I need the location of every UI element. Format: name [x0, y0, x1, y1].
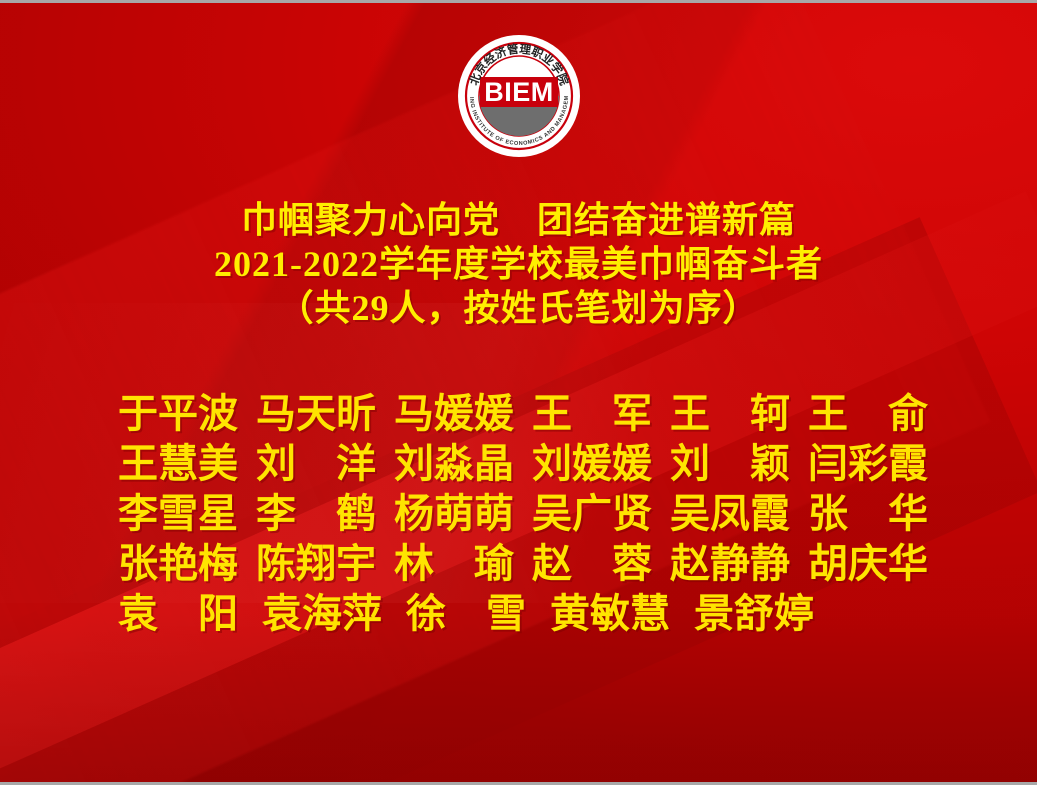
honoree-name: 杨萌萌	[394, 489, 514, 539]
honoree-name: 胡庆华	[808, 539, 928, 589]
honoree-name: 张艳梅	[118, 539, 238, 589]
honoree-name: 王 军	[532, 389, 652, 439]
honoree-name: 景舒婷	[694, 589, 814, 639]
honoree-name: 马媛媛	[394, 389, 514, 439]
honoree-name: 刘淼晶	[394, 439, 514, 489]
honoree-name: 黄敏慧	[550, 589, 670, 639]
slide-canvas: BIEM 北京经济管理职业学院 BEIJING INSTITUTE OF ECO…	[0, 0, 1037, 785]
title-line-2: 2021-2022学年度学校最美巾帼奋斗者	[0, 243, 1037, 287]
honoree-row: 于平波马天昕马媛媛王 军王 轲王 俞	[118, 389, 928, 439]
honoree-name: 闫彩霞	[808, 439, 928, 489]
honoree-name: 徐 雪	[406, 589, 526, 639]
honoree-name: 王慧美	[118, 439, 238, 489]
honoree-name: 王 轲	[670, 389, 790, 439]
title-line-1: 巾帼聚力心向党 团结奋进谱新篇	[0, 199, 1037, 243]
honoree-name: 于平波	[118, 389, 238, 439]
honoree-name: 刘媛媛	[532, 439, 652, 489]
honoree-row: 袁 阳袁海萍徐 雪黄敏慧景舒婷	[118, 589, 928, 639]
honoree-name: 赵静静	[670, 539, 790, 589]
title-block: 巾帼聚力心向党 团结奋进谱新篇 2021-2022学年度学校最美巾帼奋斗者 （共…	[0, 199, 1037, 331]
honoree-name: 刘 洋	[256, 439, 376, 489]
honoree-name: 张 华	[808, 489, 928, 539]
honoree-name: 王 俞	[808, 389, 928, 439]
honoree-name: 李雪星	[118, 489, 238, 539]
honoree-name: 吴广贤	[532, 489, 652, 539]
honoree-name: 赵 蓉	[532, 539, 652, 589]
honoree-row: 李雪星李 鹤杨萌萌吴广贤吴凤霞张 华	[118, 489, 928, 539]
honoree-name: 李 鹤	[256, 489, 376, 539]
honoree-name-list: 于平波马天昕马媛媛王 军王 轲王 俞王慧美刘 洋刘淼晶刘媛媛刘 颖闫彩霞李雪星李…	[118, 389, 928, 639]
logo-acronym-text: BIEM	[484, 77, 554, 107]
honoree-name: 吴凤霞	[670, 489, 790, 539]
honoree-row: 张艳梅陈翔宇林 瑜赵 蓉赵静静胡庆华	[118, 539, 928, 589]
honoree-name: 袁 阳	[118, 589, 238, 639]
honoree-name: 林 瑜	[394, 539, 514, 589]
honoree-name: 陈翔宇	[256, 539, 376, 589]
honoree-name: 刘 颖	[670, 439, 790, 489]
honoree-name: 马天昕	[256, 389, 376, 439]
honoree-name: 袁海萍	[262, 589, 382, 639]
title-line-3: （共29人，按姓氏笔划为序）	[0, 287, 1037, 331]
honoree-row: 王慧美刘 洋刘淼晶刘媛媛刘 颖闫彩霞	[118, 439, 928, 489]
biem-logo: BIEM 北京经济管理职业学院 BEIJING INSTITUTE OF ECO…	[456, 33, 582, 159]
